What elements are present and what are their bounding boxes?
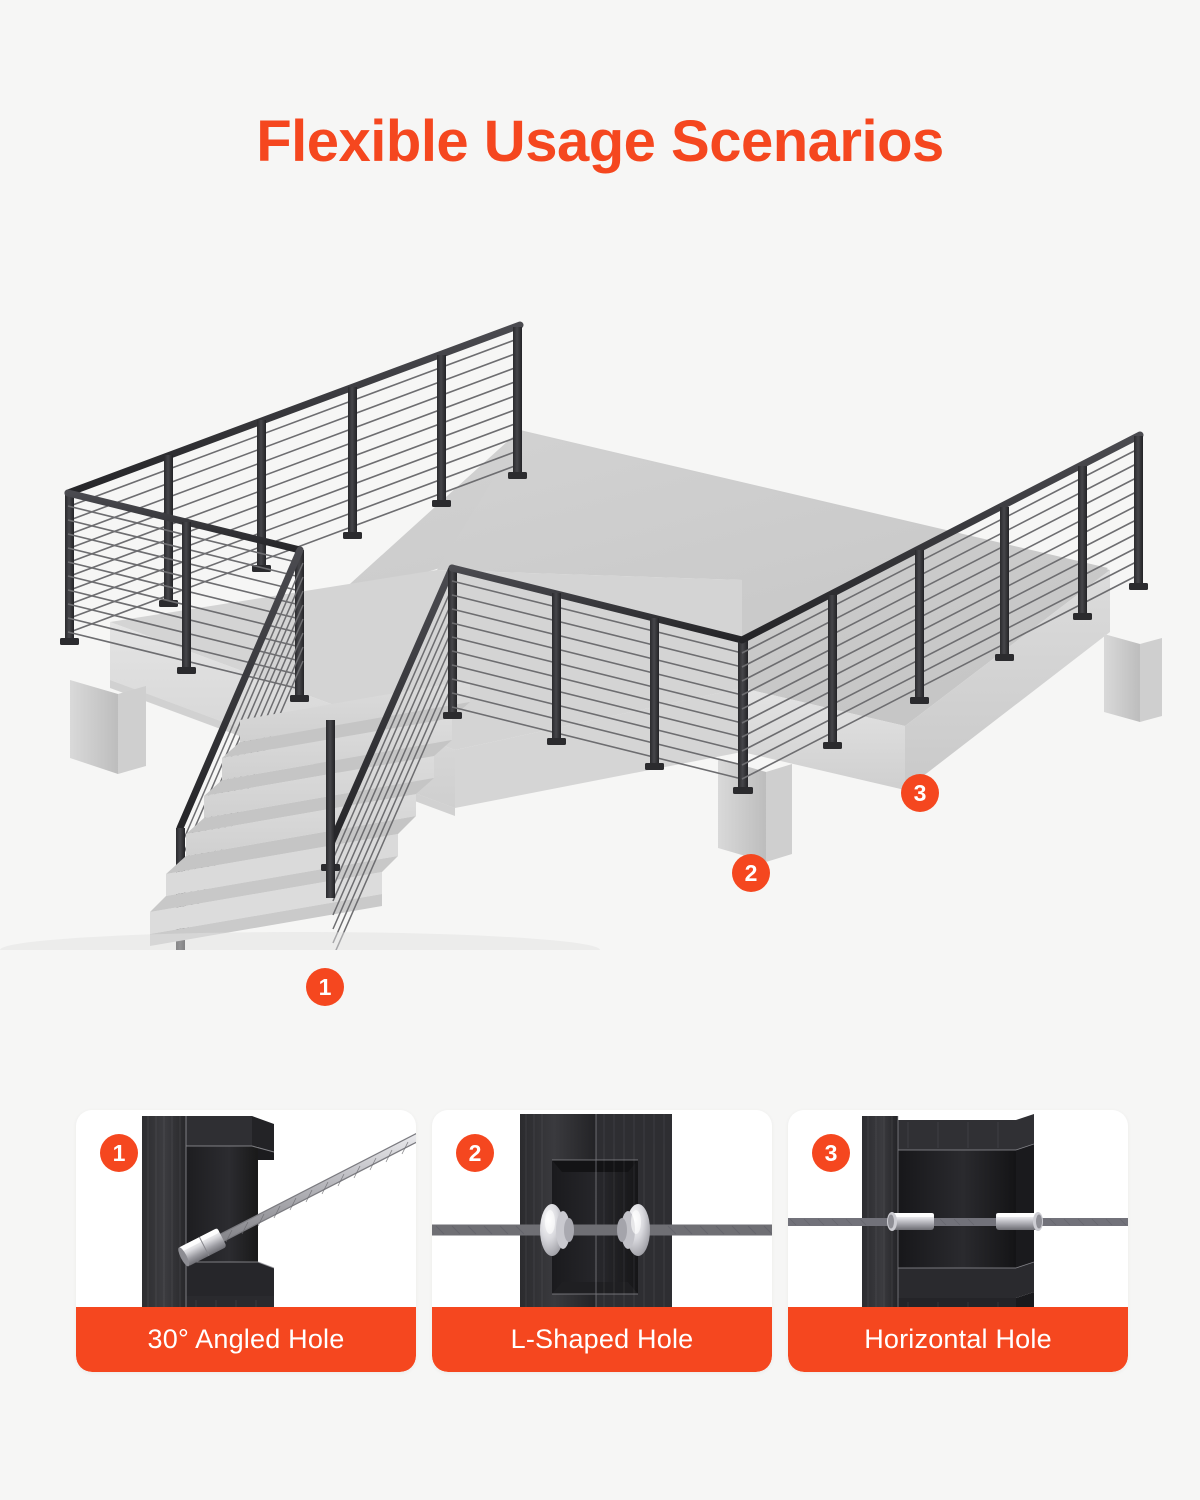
hero-illustration: 1 2 3 xyxy=(0,250,1200,950)
hero-callout-1[interactable]: 1 xyxy=(306,968,344,1006)
panel-label-angled-hole: 30° Angled Hole xyxy=(76,1307,416,1372)
hero-callout-2[interactable]: 2 xyxy=(732,854,770,892)
panel-label-l-shaped-hole: L-Shaped Hole xyxy=(432,1307,772,1372)
panel-label-horizontal-hole: Horizontal Hole xyxy=(788,1307,1128,1372)
sleeve-right xyxy=(996,1212,1043,1231)
feature-panel-l-shaped-hole[interactable]: 2 L-Shaped Hole xyxy=(432,1110,772,1372)
feature-panel-angled-hole[interactable]: 1 30° Angled Hole xyxy=(76,1110,416,1372)
page-title: Flexible Usage Scenarios xyxy=(0,108,1200,175)
sleeve-left xyxy=(887,1212,934,1231)
feature-panel-horizontal-hole[interactable]: 3 Horizontal Hole xyxy=(788,1110,1128,1372)
feature-panels: 1 30° Angled Hole xyxy=(76,1110,1128,1372)
panel-badge-1: 1 xyxy=(100,1134,138,1172)
hero-callout-3[interactable]: 3 xyxy=(901,774,939,812)
deck-scene-svg xyxy=(0,250,1200,950)
panel-badge-3: 3 xyxy=(812,1134,850,1172)
panel-badge-2: 2 xyxy=(456,1134,494,1172)
